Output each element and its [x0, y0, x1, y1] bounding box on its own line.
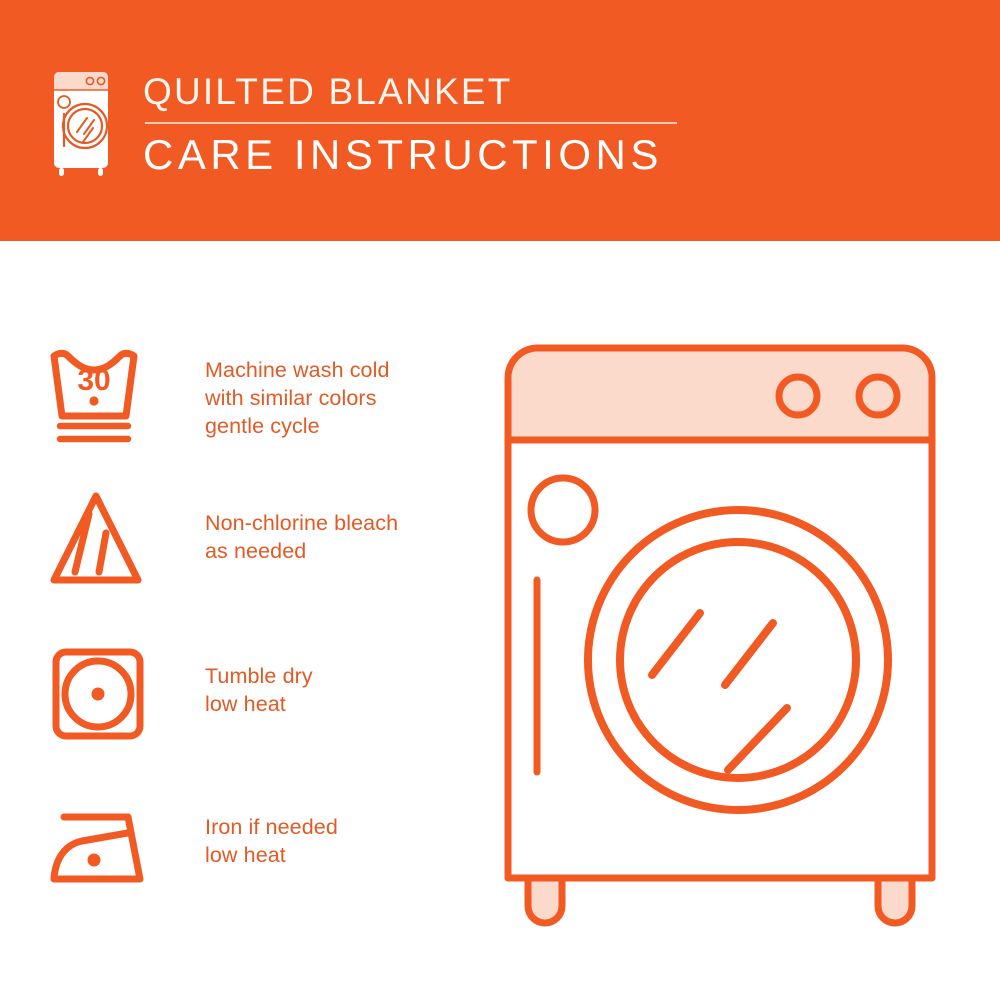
list-item-label: Non-chlorine bleach as needed: [168, 483, 398, 565]
page-subtitle: CARE INSTRUCTIONS: [143, 130, 743, 180]
header-title-block: QUILTED BLANKET CARE INSTRUCTIONS: [143, 70, 743, 180]
care-instructions-page: QUILTED BLANKET CARE INSTRUCTIONS 30 Mac…: [0, 0, 1000, 1000]
list-item: Iron if needed low heat: [48, 792, 468, 902]
front-load-washing-machine-illustration: [480, 330, 960, 930]
list-item: 30 Machine wash cold with similar colors…: [48, 344, 468, 454]
iron-low-heat-icon: [48, 792, 168, 902]
svg-text:30: 30: [77, 364, 110, 397]
list-item-label: Tumble dry low heat: [168, 641, 313, 718]
list-item: Non-chlorine bleach as needed: [48, 483, 468, 593]
header-banner: QUILTED BLANKET CARE INSTRUCTIONS: [0, 0, 1000, 241]
wash-basin-30-gentle-icon: 30: [48, 344, 168, 454]
non-chlorine-bleach-triangle-icon: [48, 483, 168, 593]
title-divider: [145, 122, 677, 124]
page-title: QUILTED BLANKET: [143, 70, 743, 114]
care-instruction-list: 30 Machine wash cold with similar colors…: [0, 241, 470, 1000]
list-item-label: Machine wash cold with similar colors ge…: [168, 344, 390, 440]
machine-leg-right: [878, 878, 912, 923]
machine-leg-left: [528, 878, 562, 923]
washing-machine-icon: [48, 68, 114, 178]
control-panel: [512, 352, 929, 441]
tumble-dry-low-heat-icon: [48, 641, 168, 751]
list-item: Tumble dry low heat: [48, 641, 468, 751]
list-item-label: Iron if needed low heat: [168, 792, 338, 869]
